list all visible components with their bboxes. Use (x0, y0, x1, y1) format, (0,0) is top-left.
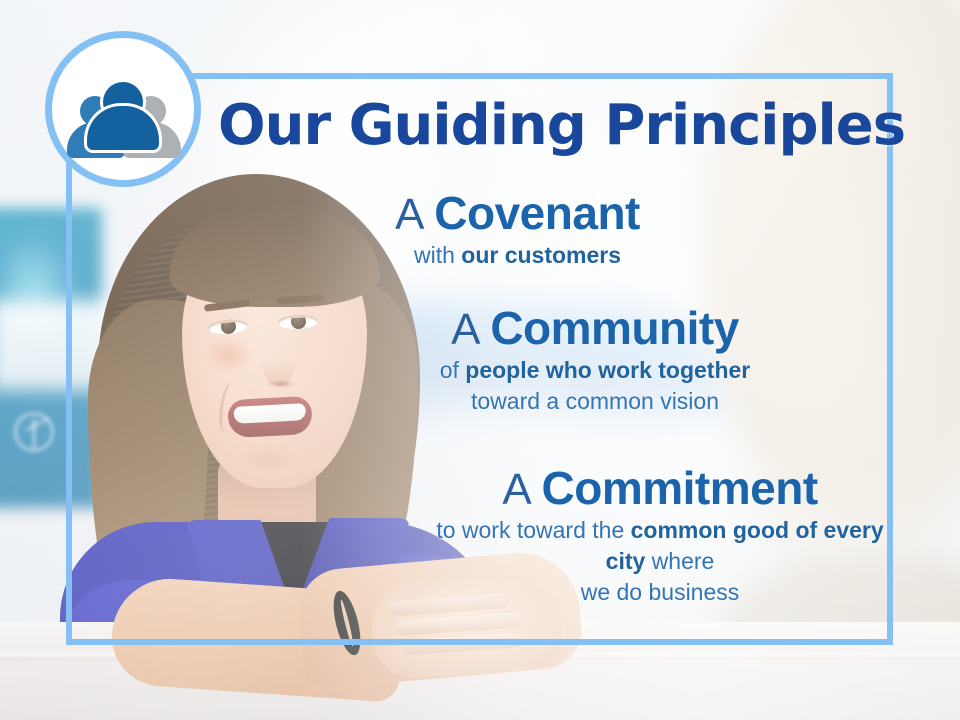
principle-keyword: Community (490, 302, 739, 354)
principle-article: A (395, 190, 434, 239)
subtext-prefix: to work toward the (436, 517, 630, 543)
principle-keyword: Commitment (542, 462, 818, 514)
principle-article: A (451, 305, 490, 354)
principle-block-commitment: A Commitment to work toward the common g… (430, 463, 890, 608)
principle-keyword: Covenant (434, 187, 640, 239)
page-title: Our Guiding Principles (218, 96, 878, 156)
principle-subtext-community: of people who work togethertoward a comm… (385, 355, 805, 417)
subtext-line2: toward a common vision (471, 388, 719, 414)
people-group-icon (68, 76, 178, 142)
subtext-bold: our customers (461, 242, 621, 268)
principle-subtext-covenant: with our customers (345, 240, 690, 271)
principle-subtext-commitment: to work toward the common good of every … (430, 515, 890, 608)
people-badge (45, 31, 201, 187)
principle-block-community: A Community of people who work togethert… (385, 303, 805, 417)
principle-headline-covenant: A Covenant (345, 188, 690, 240)
principle-article: A (502, 465, 541, 514)
subtext-prefix: of (440, 357, 466, 383)
subtext-bold: people who work together (465, 357, 750, 383)
subtext-prefix: with (414, 242, 461, 268)
vw-logo-icon (14, 412, 54, 452)
guiding-principles-graphic: FLOW FLOW (0, 0, 960, 720)
principle-headline-community: A Community (385, 303, 805, 355)
subtext-suffix: where (645, 548, 714, 574)
principle-headline-commitment: A Commitment (430, 463, 890, 515)
subtext-line2: we do business (581, 579, 740, 605)
principle-block-covenant: A Covenant with our customers (345, 188, 690, 271)
